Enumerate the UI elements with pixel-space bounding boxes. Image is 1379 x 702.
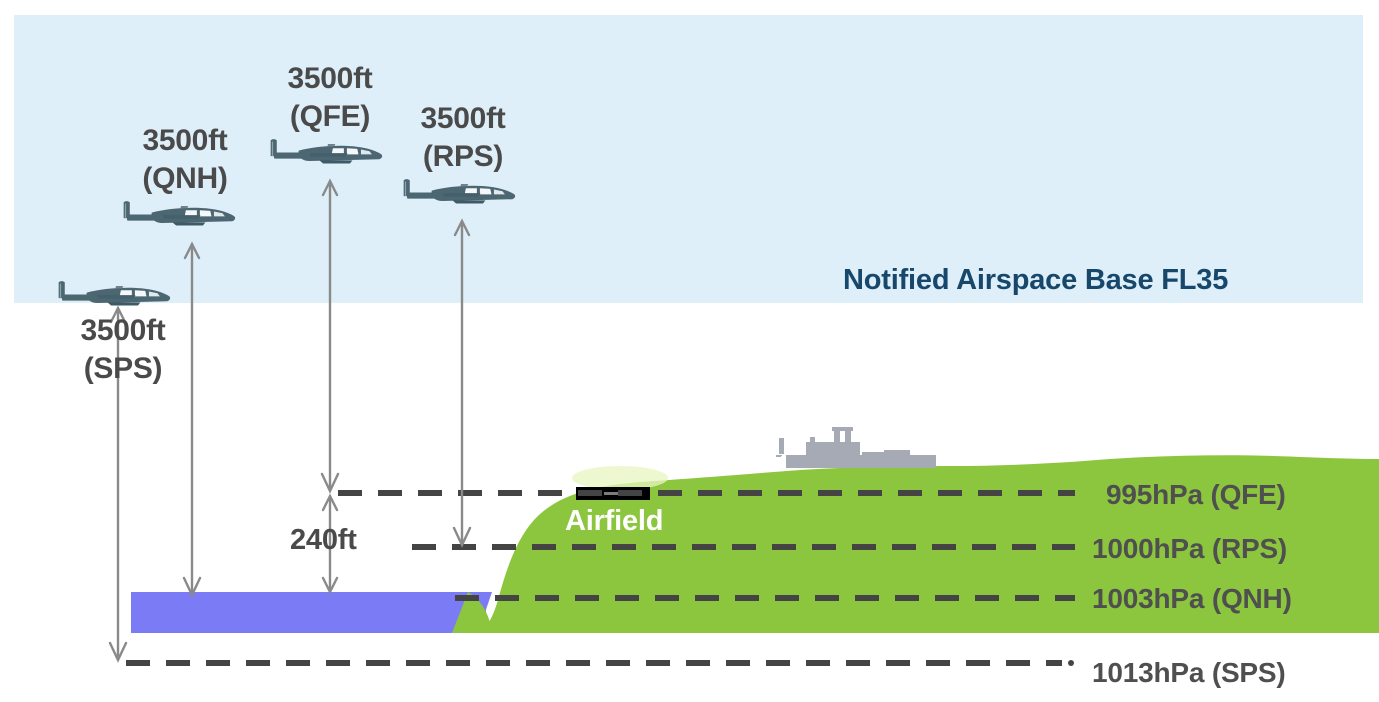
altimetry-diagram: Notified Airspace Base FL35 3500ft (SPS)… bbox=[0, 0, 1379, 702]
airfield-glow bbox=[572, 466, 668, 490]
datum-label-qnh: 1003hPa (QNH) bbox=[1092, 583, 1292, 614]
datum-line-sps-enddot bbox=[1068, 660, 1074, 666]
callout-sps-altitude: 3500ft bbox=[58, 314, 188, 348]
notified-airspace-banner: Notified Airspace Base FL35 bbox=[843, 264, 1228, 296]
callout-rps-setting: (RPS) bbox=[398, 140, 528, 174]
separation-label: 240ft bbox=[290, 524, 357, 556]
callout-sps-setting: (SPS) bbox=[58, 352, 188, 386]
datum-label-rps: 1000hPa (RPS) bbox=[1092, 533, 1287, 564]
port-structures bbox=[776, 427, 936, 468]
notified-airspace-region bbox=[14, 15, 1363, 303]
callout-qnh-altitude: 3500ft bbox=[120, 124, 250, 158]
callout-rps-altitude: 3500ft bbox=[398, 102, 528, 136]
callout-qnh-setting: (QNH) bbox=[120, 162, 250, 196]
airfield-label: Airfield bbox=[565, 505, 663, 537]
callout-qfe-setting: (QFE) bbox=[265, 100, 395, 134]
datum-label-qfe: 995hPa (QFE) bbox=[1106, 479, 1286, 510]
datum-label-sps: 1013hPa (SPS) bbox=[1092, 657, 1286, 688]
water-body bbox=[131, 592, 486, 633]
callout-qfe-altitude: 3500ft bbox=[265, 62, 395, 96]
